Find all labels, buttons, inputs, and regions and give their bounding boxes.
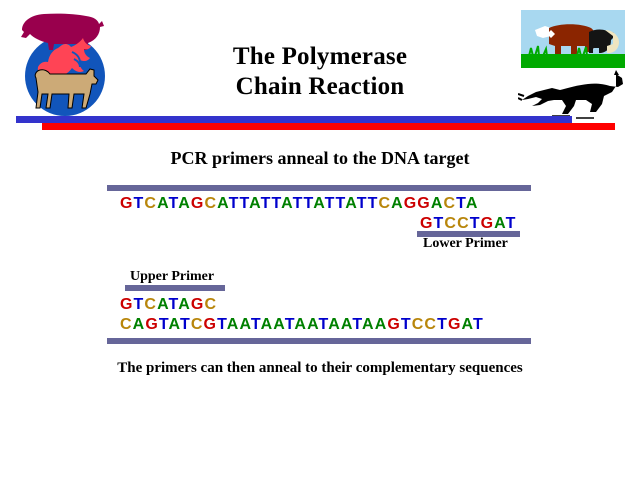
base-C: C: [204, 296, 217, 313]
base-A: A: [273, 316, 284, 333]
base-A: A: [307, 316, 318, 333]
base-T: T: [271, 195, 281, 212]
base-C: C: [144, 296, 157, 313]
base-T: T: [357, 195, 368, 212]
base-A: A: [178, 296, 191, 313]
base-T: T: [506, 215, 517, 232]
base-T: T: [217, 316, 227, 333]
base-T: T: [239, 195, 249, 212]
base-T: T: [293, 195, 304, 212]
upper-primer-sequence: GTCATAGC: [120, 296, 217, 314]
base-A: A: [239, 316, 250, 333]
base-A: A: [313, 195, 324, 212]
base-A: A: [169, 316, 180, 333]
base-T: T: [169, 195, 179, 212]
title-line-1: The Polymerase: [150, 42, 490, 72]
upper-primer-underline: [125, 285, 225, 291]
base-T: T: [352, 316, 362, 333]
base-C: C: [444, 215, 457, 232]
base-G: G: [204, 316, 218, 333]
base-T: T: [456, 195, 466, 212]
running-horse-silhouette: [518, 70, 628, 120]
base-A: A: [375, 316, 388, 333]
base-G: G: [120, 296, 134, 313]
base-T: T: [319, 316, 329, 333]
base-A: A: [133, 316, 146, 333]
base-A: A: [281, 195, 292, 212]
base-T: T: [325, 195, 336, 212]
base-C: C: [457, 215, 470, 232]
base-A: A: [431, 195, 444, 212]
cattle-photo: [521, 10, 625, 68]
footnote-text: The primers can then anneal to their com…: [0, 360, 640, 377]
base-C: C: [378, 195, 391, 212]
base-T: T: [336, 195, 346, 212]
divider-bar-red: [42, 123, 615, 130]
base-G: G: [387, 316, 401, 333]
base-A: A: [261, 316, 274, 333]
base-C: C: [424, 316, 437, 333]
target-dna-sequence: GTCATAGCATTATTATTATTATTCAGGACTA: [120, 195, 479, 213]
complementary-strand-sequence: CAGTATCGTAATAATAATAATAAGTCCTGAT: [120, 316, 484, 334]
slide-canvas: The Polymerase Chain Reaction PCR primer…: [0, 0, 640, 480]
base-A: A: [462, 316, 473, 333]
base-A: A: [178, 195, 191, 212]
base-G: G: [145, 316, 159, 333]
base-G: G: [404, 195, 418, 212]
divider-bar-blue: [16, 116, 572, 123]
subheading: PCR primers anneal to the DNA target: [0, 148, 640, 169]
base-A: A: [157, 195, 168, 212]
base-C: C: [144, 195, 157, 212]
base-T: T: [470, 215, 481, 232]
base-T: T: [134, 195, 145, 212]
upper-primer-label: Upper Primer: [130, 269, 214, 285]
base-T: T: [304, 195, 314, 212]
base-A: A: [345, 195, 356, 212]
base-G: G: [191, 195, 205, 212]
base-A: A: [294, 316, 307, 333]
page-title: The Polymerase Chain Reaction: [150, 42, 490, 102]
base-G: G: [420, 215, 434, 232]
base-C: C: [412, 316, 425, 333]
base-T: T: [473, 316, 484, 333]
base-T: T: [229, 195, 240, 212]
base-T: T: [251, 316, 261, 333]
base-A: A: [466, 195, 479, 212]
base-T: T: [134, 296, 145, 313]
base-A: A: [391, 195, 404, 212]
base-T: T: [437, 316, 448, 333]
base-T: T: [180, 316, 191, 333]
base-C: C: [120, 316, 133, 333]
base-G: G: [417, 195, 431, 212]
base-G: G: [481, 215, 495, 232]
farm-animals-logo: [14, 4, 116, 119]
base-T: T: [368, 195, 379, 212]
base-A: A: [157, 296, 168, 313]
sequence-rule-bottom: [107, 338, 531, 344]
base-T: T: [159, 316, 169, 333]
lower-primer-label: Lower Primer: [423, 236, 508, 252]
base-T: T: [434, 215, 445, 232]
base-T: T: [401, 316, 412, 333]
base-C: C: [204, 195, 217, 212]
base-A: A: [362, 316, 375, 333]
base-T: T: [169, 296, 179, 313]
base-C: C: [444, 195, 457, 212]
base-C: C: [191, 316, 204, 333]
title-line-2: Chain Reaction: [150, 72, 490, 102]
base-T: T: [261, 195, 272, 212]
base-A: A: [328, 316, 341, 333]
base-A: A: [217, 195, 228, 212]
base-A: A: [249, 195, 260, 212]
base-G: G: [448, 316, 462, 333]
base-A: A: [341, 316, 352, 333]
base-A: A: [494, 215, 505, 232]
base-G: G: [191, 296, 205, 313]
base-G: G: [120, 195, 134, 212]
base-A: A: [227, 316, 240, 333]
base-T: T: [285, 316, 295, 333]
sequence-rule-top: [107, 185, 531, 191]
